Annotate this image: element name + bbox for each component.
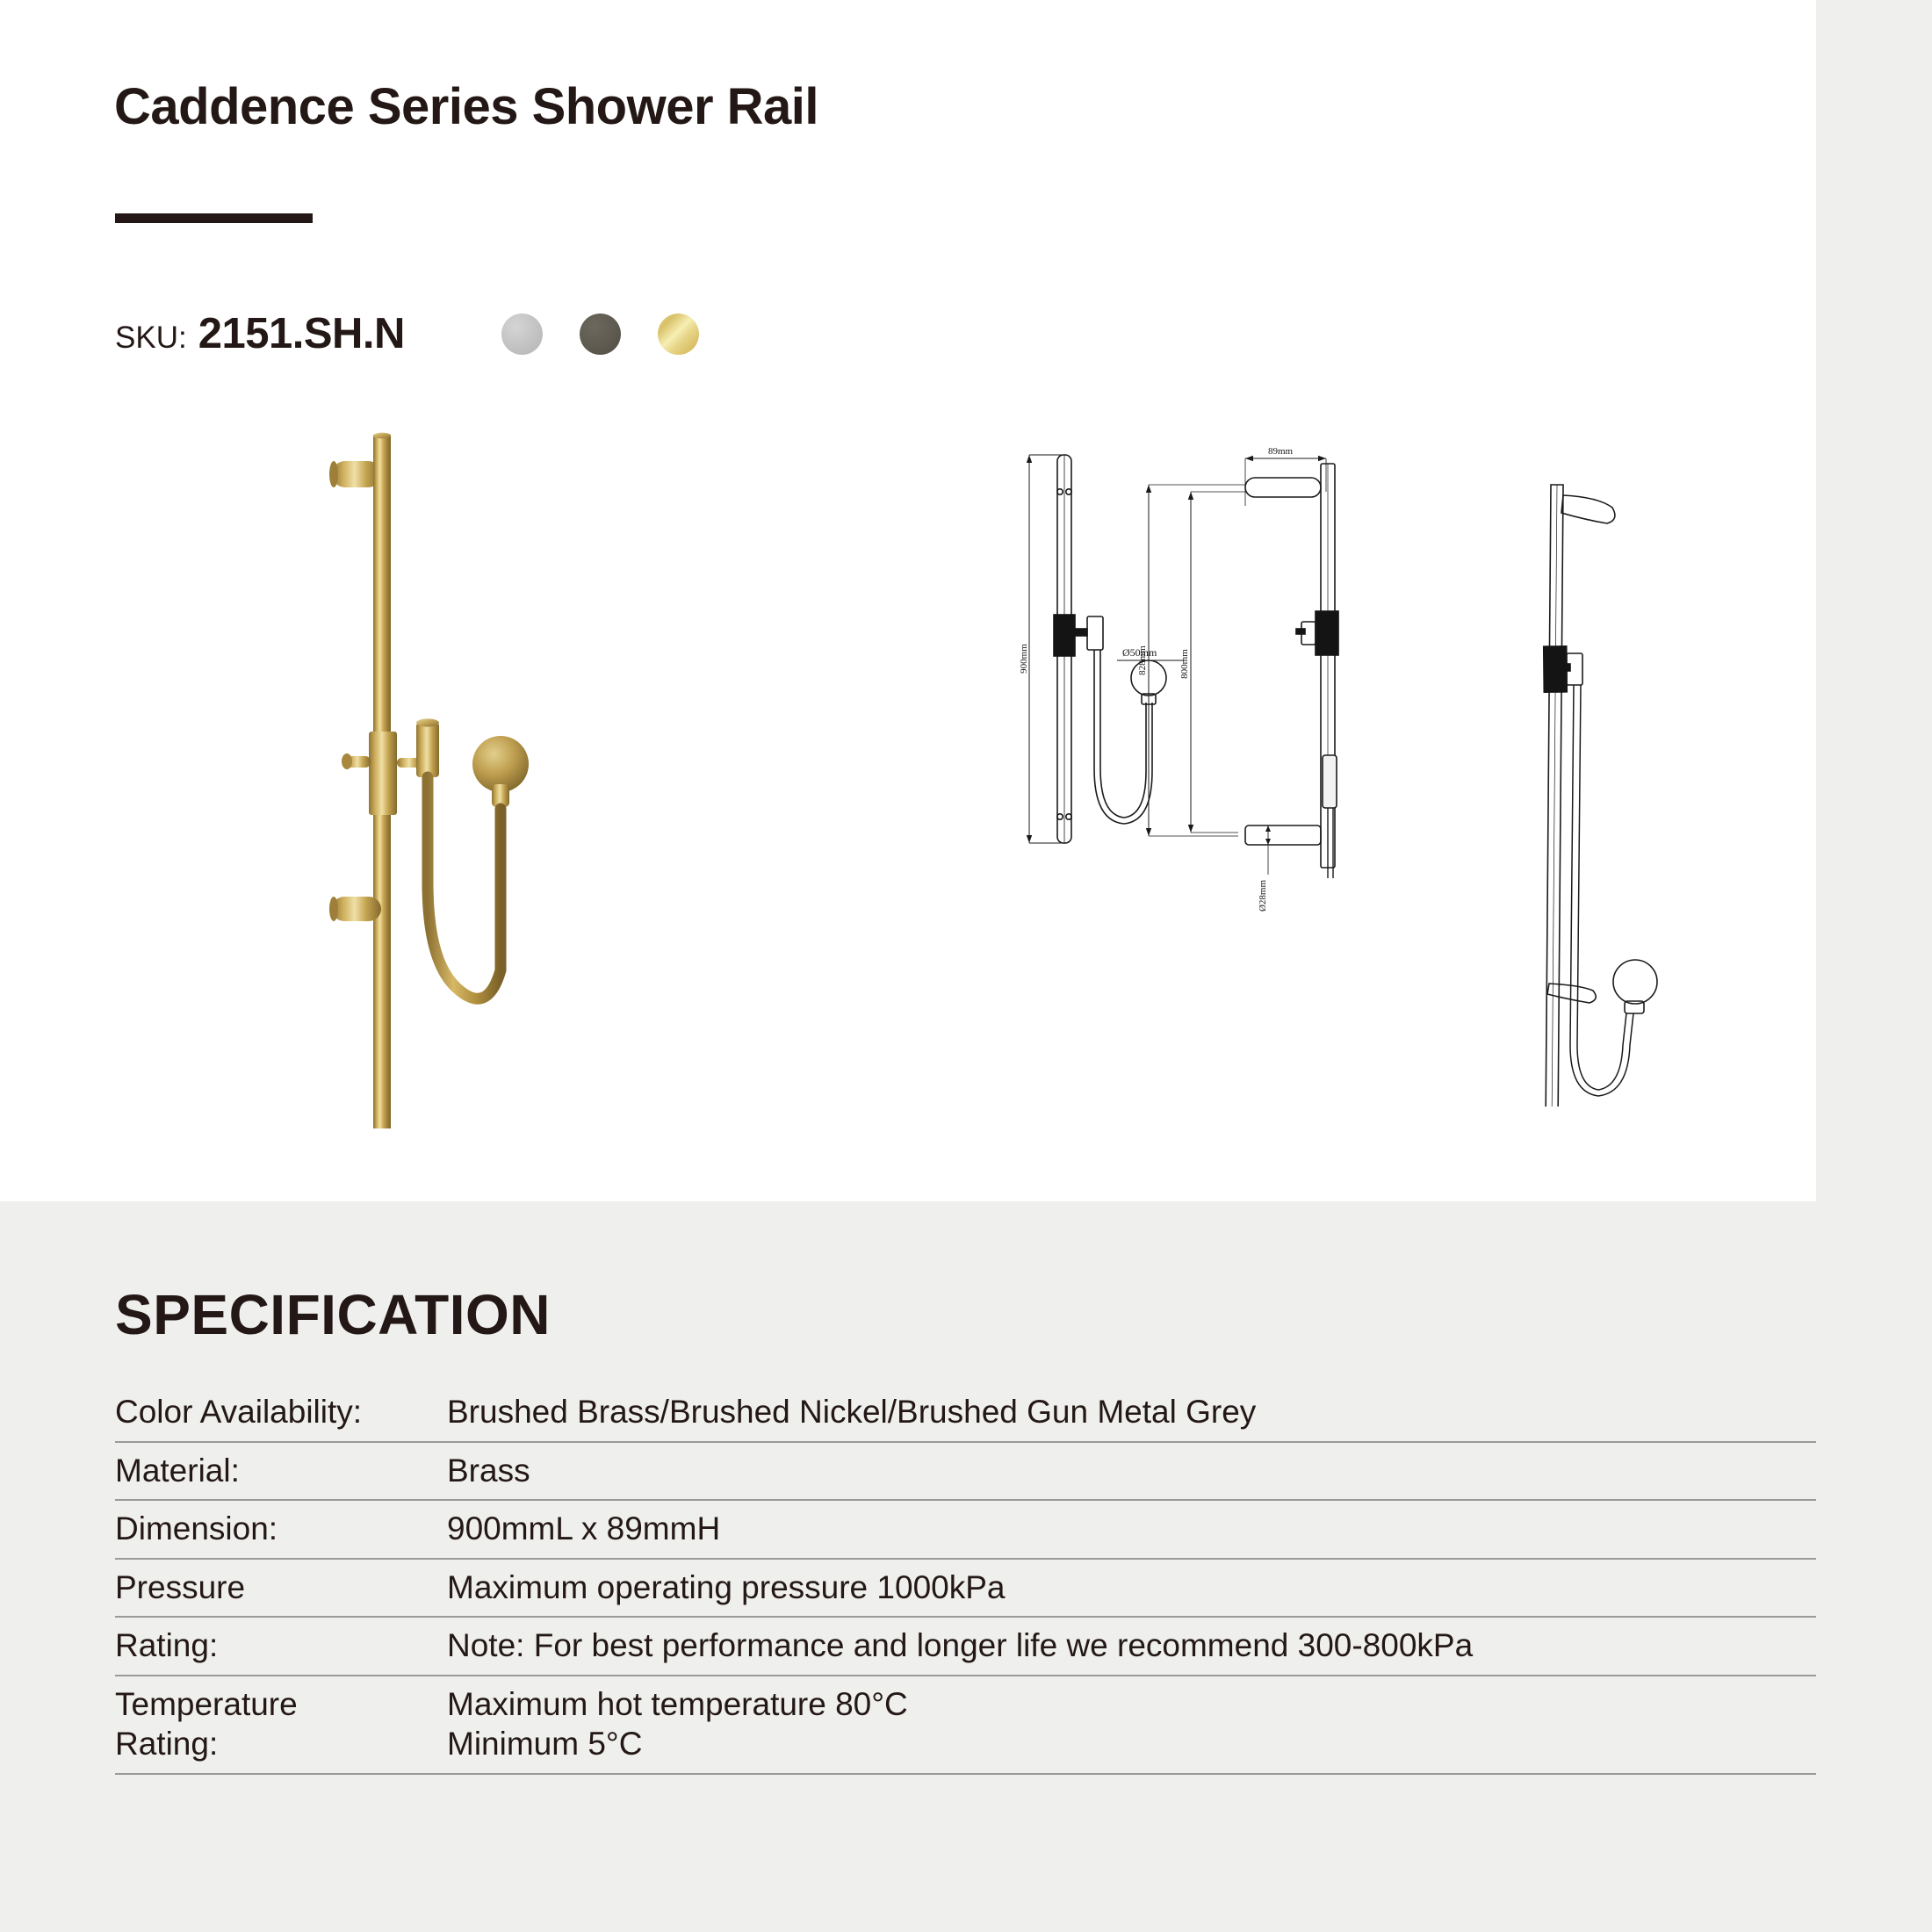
sku-label: SKU:: [115, 322, 187, 353]
product-photo-svg: [325, 426, 606, 1155]
color-swatch-brushed-brass[interactable]: [658, 314, 699, 355]
spec-value-material: Brass: [447, 1442, 1816, 1501]
spec-value-pressure: Maximum operating pressure 1000kPa: [447, 1559, 1816, 1618]
technical-drawings-svg: Ø50mm 900mm 89mm: [1019, 439, 1739, 1107]
sku-value: 2151.SH.N: [198, 313, 405, 356]
sku-row: SKU: 2151.SH.N: [115, 303, 699, 364]
spec-label-material: Material:: [115, 1442, 447, 1501]
spec-label-color-availability: Color Availability:: [115, 1384, 447, 1442]
color-swatch-brushed-gun-metal-grey[interactable]: [580, 314, 621, 355]
table-row: Dimension: 900mmL x 89mmH: [115, 1500, 1816, 1559]
spec-label-dimension: Dimension:: [115, 1500, 447, 1559]
dim-label-89mm: 89mm: [1268, 446, 1294, 457]
drawing-side-elevation: 89mm 828mm 800mm: [1137, 446, 1338, 912]
color-swatch-group: [501, 314, 699, 355]
spec-value-dimension: 900mmL x 89mmH: [447, 1500, 1816, 1559]
spec-label-temperature-rating: Temperature Rating:: [115, 1676, 447, 1774]
wall-outlet-elbow: [472, 736, 529, 807]
product-photo: [325, 426, 606, 1155]
spec-value-temperature-rating: Maximum hot temperature 80°C Minimum 5°C: [447, 1676, 1816, 1774]
spec-label-rating: Rating:: [115, 1617, 447, 1676]
dim-label-diameter-28: Ø28mm: [1258, 880, 1268, 912]
dim-label-800mm: 800mm: [1179, 649, 1190, 679]
spec-label-pressure: Pressure: [115, 1559, 447, 1618]
dim-label-900mm: 900mm: [1019, 644, 1029, 674]
specification-section: SPECIFICATION Color Availability: Brushe…: [0, 1201, 1932, 1932]
dim-label-828mm: 828mm: [1137, 645, 1148, 675]
spec-value-rating: Note: For best performance and longer li…: [447, 1617, 1816, 1676]
drawing-front-elevation: Ø50mm: [1027, 455, 1186, 843]
hero-panel: Caddence Series Shower Rail SKU: 2151.SH…: [0, 0, 1816, 1201]
drawing-isometric-view: [1544, 485, 1657, 1107]
shower-hose: [428, 777, 501, 998]
rail-top-cap: [373, 433, 391, 439]
spec-value-color-availability: Brushed Brass/Brushed Nickel/Brushed Gun…: [447, 1384, 1816, 1442]
page-title: Caddence Series Shower Rail: [114, 77, 818, 136]
table-row: Temperature Rating: Maximum hot temperat…: [115, 1676, 1816, 1774]
table-row: Pressure Maximum operating pressure 1000…: [115, 1559, 1816, 1618]
specification-heading: SPECIFICATION: [115, 1282, 551, 1347]
table-row: Color Availability: Brushed Brass/Brushe…: [115, 1384, 1816, 1442]
specification-table: Color Availability: Brushed Brass/Brushe…: [115, 1384, 1816, 1775]
technical-drawings: Ø50mm 900mm 89mm: [1019, 439, 1739, 1107]
product-spec-sheet: Caddence Series Shower Rail SKU: 2151.SH…: [0, 0, 1932, 1932]
table-row: Rating: Note: For best performance and l…: [115, 1617, 1816, 1676]
color-swatch-brushed-nickel[interactable]: [501, 314, 543, 355]
title-underline-rule: [115, 213, 313, 223]
lower-wall-bracket: [329, 897, 381, 921]
table-row: Material: Brass: [115, 1442, 1816, 1501]
